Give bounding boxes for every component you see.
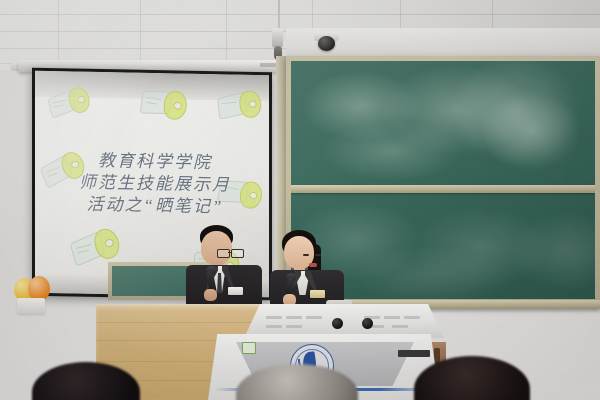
presenter-hand [204,289,217,301]
ceiling-sensor [272,28,283,48]
classroom-photo: 教育科学学院 师范生技能展示月 活动之“晒笔记” [0,0,600,400]
eye-left [303,254,309,256]
dome-camera-icon [318,36,335,51]
eyeglasses-icon [217,249,230,258]
lectern-label-tag [242,342,256,354]
blackboard-divider-rail [291,185,595,193]
ceiling-cable [278,0,280,30]
mouth [309,263,317,267]
name-badge [228,287,243,295]
lectern-top-surface [244,304,444,338]
wall-fixture [17,298,45,314]
name-badge [310,290,325,298]
lectern-brand-plate [398,350,430,357]
eyeglasses-bridge [228,252,231,253]
presenter-head [201,231,232,265]
cable-port [332,318,343,329]
cable-port [362,318,373,329]
eyeglasses-icon [231,249,244,258]
